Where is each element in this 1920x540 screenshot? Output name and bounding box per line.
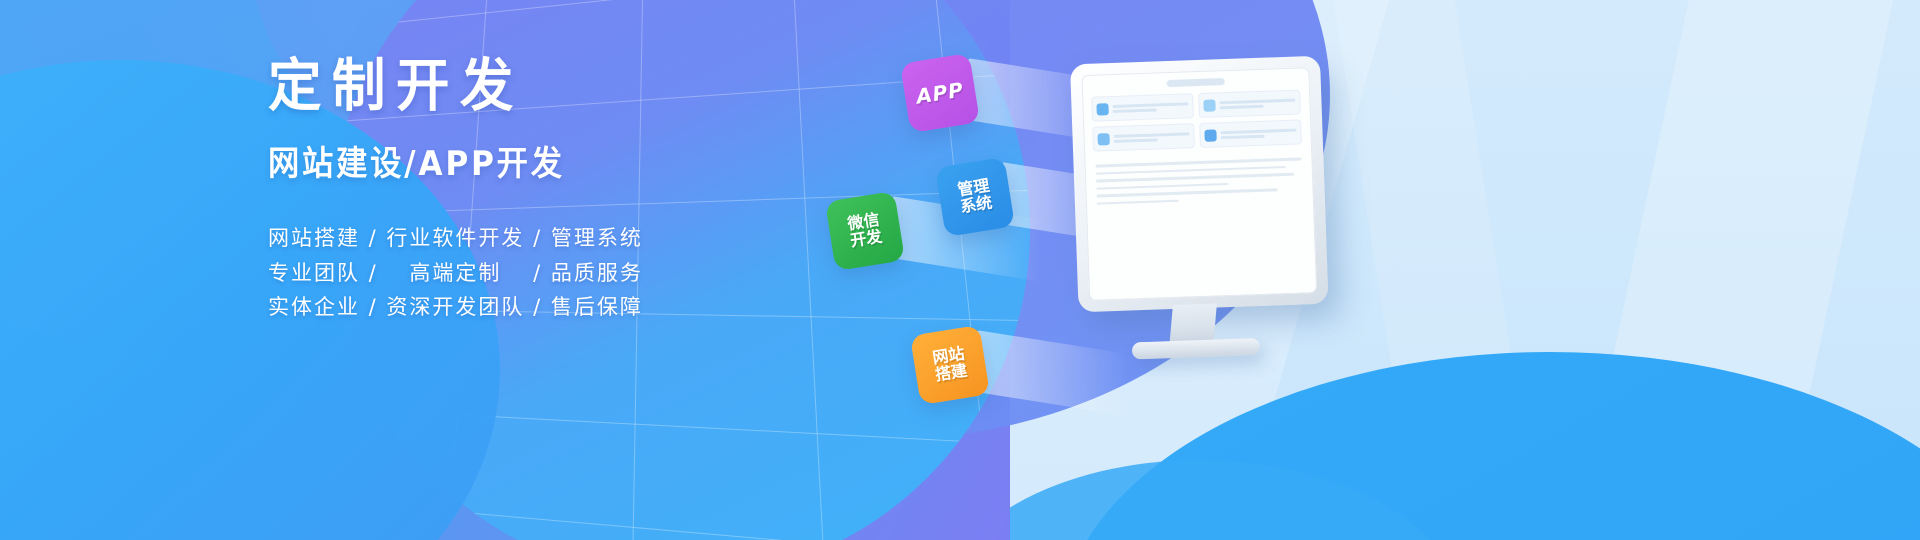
feature-line-1: 网站搭建 / 行业软件开发 / 管理系统 xyxy=(268,221,738,256)
screen-card-icon xyxy=(1204,129,1216,141)
screen-card-lines xyxy=(1112,100,1188,115)
screen-card xyxy=(1199,119,1302,148)
screen-card xyxy=(1092,123,1195,152)
promo-banner: 定制开发 网站建设/APP开发 网站搭建 / 行业软件开发 / 管理系统 专业团… xyxy=(0,0,1920,540)
service-tile-management-label-2: 系统 xyxy=(959,194,993,216)
service-tile-app-label: APP xyxy=(915,79,965,107)
banner-subtitle: 网站建设/APP开发 xyxy=(268,147,700,181)
screen-card-icon xyxy=(1097,133,1109,145)
screen-card xyxy=(1198,89,1301,118)
service-tile-website-label-2: 搭建 xyxy=(934,362,968,384)
monitor-frame xyxy=(1070,56,1329,313)
monitor-screen xyxy=(1081,67,1317,301)
feature-line-2: 专业团队 / 高端定制 / 品质服务 xyxy=(268,256,738,291)
service-tile-management[interactable]: 管理 系统 xyxy=(935,157,1015,237)
banner-title: 定制开发 xyxy=(268,58,710,115)
screen-card-icon xyxy=(1096,103,1108,115)
service-tile-app[interactable]: APP xyxy=(900,53,980,133)
banner-copy: 定制开发 网站建设/APP开发 网站搭建 / 行业软件开发 / 管理系统 专业团… xyxy=(268,58,738,325)
banner-feature-list: 网站搭建 / 行业软件开发 / 管理系统 专业团队 / 高端定制 / 品质服务 … xyxy=(268,221,738,325)
screen-card-icon xyxy=(1203,99,1215,111)
service-tile-website[interactable]: 网站 搭建 xyxy=(910,325,990,405)
feature-line-3: 实体企业 / 资深开发团队 / 售后保障 xyxy=(268,290,738,325)
screen-card-grid xyxy=(1082,89,1312,152)
monitor-illustration xyxy=(1070,56,1330,355)
screen-card-lines xyxy=(1220,126,1296,141)
screen-card xyxy=(1091,93,1194,122)
screen-header-chip xyxy=(1167,78,1225,87)
service-tile-wechat-label-2: 开发 xyxy=(849,228,883,250)
screen-text-block xyxy=(1084,144,1314,205)
screen-card-lines xyxy=(1219,96,1295,111)
service-tile-wechat[interactable]: 微信 开发 xyxy=(825,191,905,271)
screen-card-lines xyxy=(1113,130,1189,145)
